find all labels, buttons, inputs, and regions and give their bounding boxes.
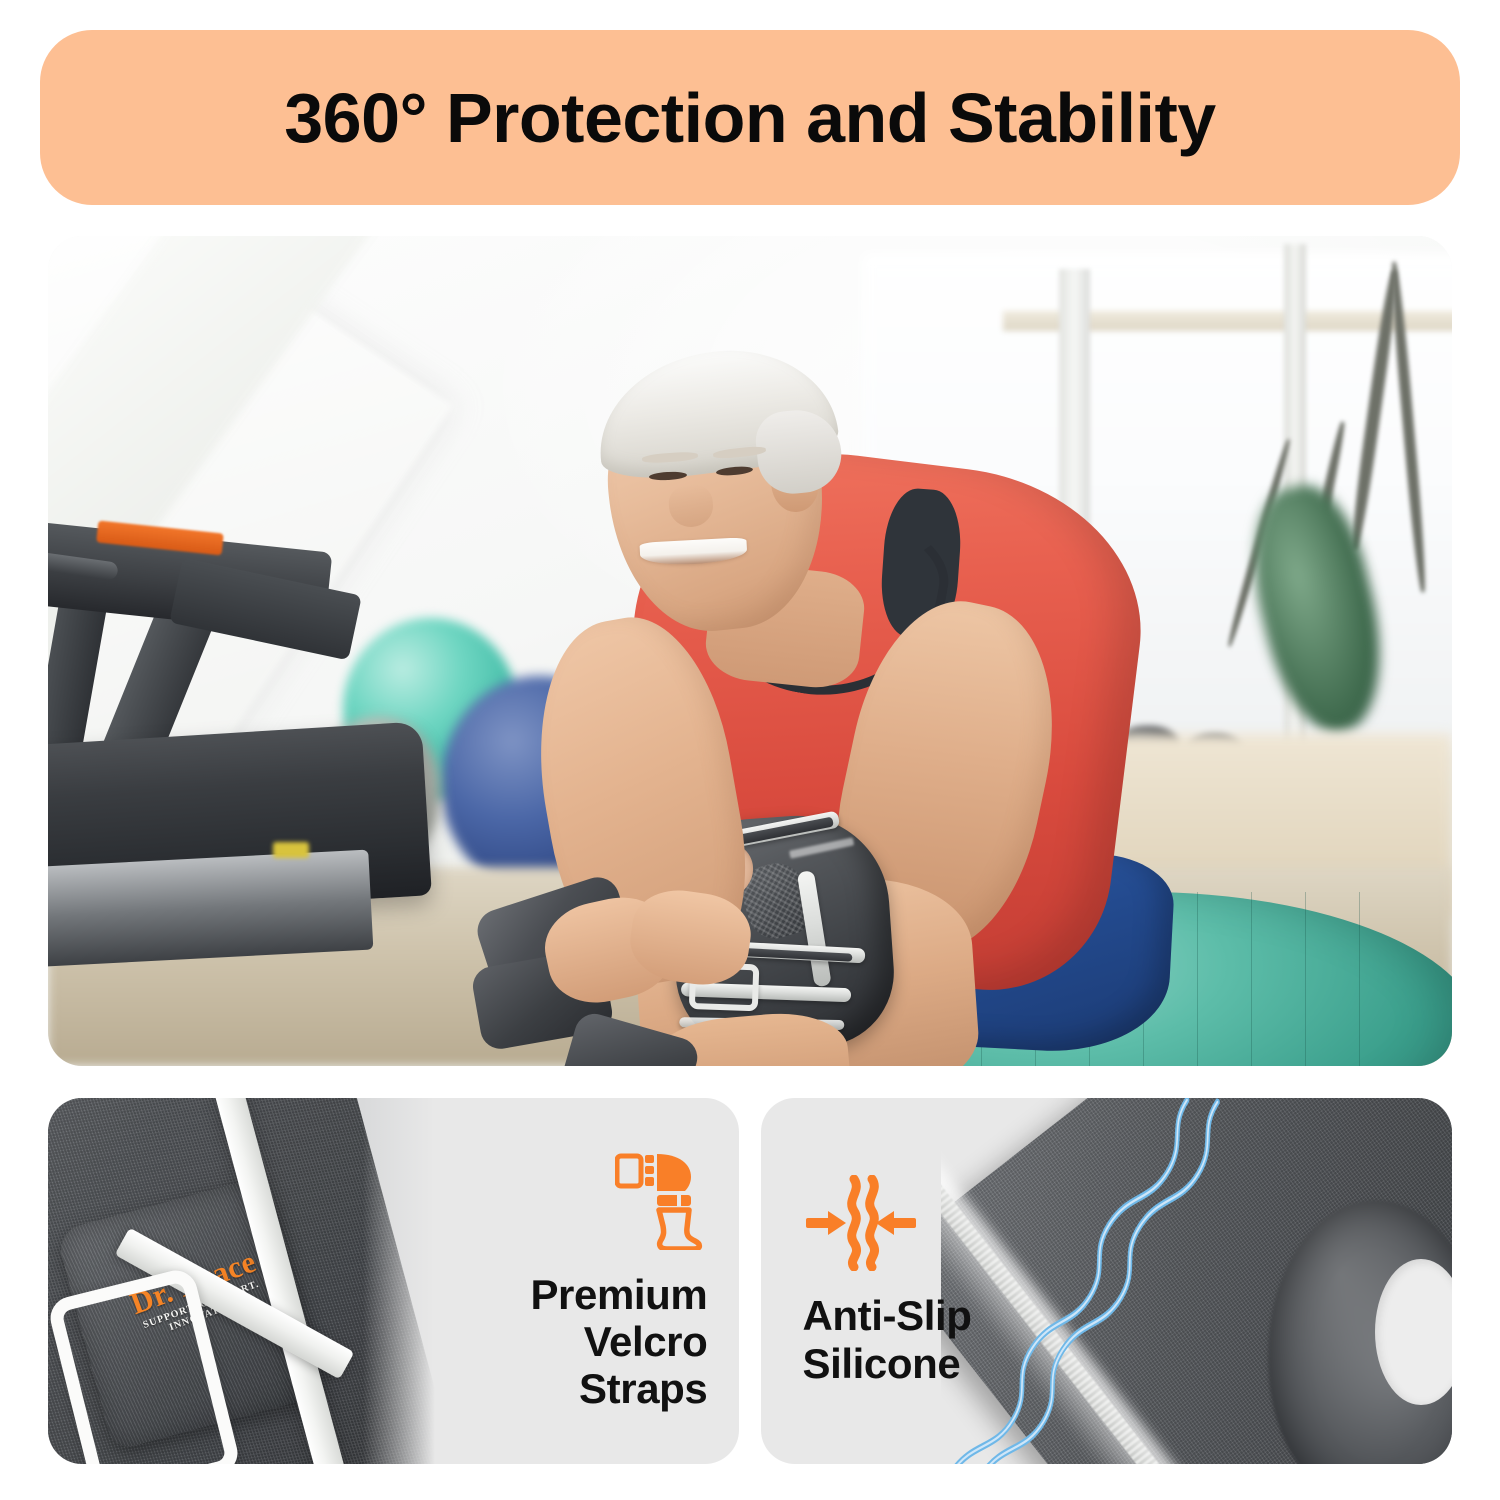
feature-panel-anti-slip-silicone: Anti-Slip Silicone	[761, 1098, 1452, 1464]
feature-label-line: Straps	[579, 1365, 707, 1412]
leg-brace-icon	[615, 1150, 707, 1255]
person-figure	[48, 236, 1452, 1066]
feature-label-line: Silicone	[802, 1340, 960, 1387]
feature-panel-velcro-straps: Dr. Brace SUPPORT. COMFORT. INNOVATION	[48, 1098, 739, 1464]
compression-waves-icon	[802, 1175, 920, 1276]
hero-gym-scene	[48, 236, 1452, 1066]
page-title: 360° Protection and Stability	[284, 83, 1216, 153]
feature-label-line: Velcro	[584, 1318, 708, 1365]
velcro-feature-text-block: Premium Velcro Straps	[417, 1098, 711, 1464]
hero-image-panel	[48, 236, 1452, 1066]
feature-label-line: Premium	[530, 1271, 707, 1318]
feature-label-line: Anti-Slip	[802, 1292, 971, 1339]
header-banner: 360° Protection and Stability	[40, 30, 1460, 205]
silicone-feature-text-block: Anti-Slip Silicone	[802, 1098, 1092, 1464]
velcro-strap-product-photo: Dr. Brace SUPPORT. COMFORT. INNOVATION	[48, 1098, 463, 1464]
feature-panels-row: Dr. Brace SUPPORT. COMFORT. INNOVATION	[48, 1098, 1452, 1464]
